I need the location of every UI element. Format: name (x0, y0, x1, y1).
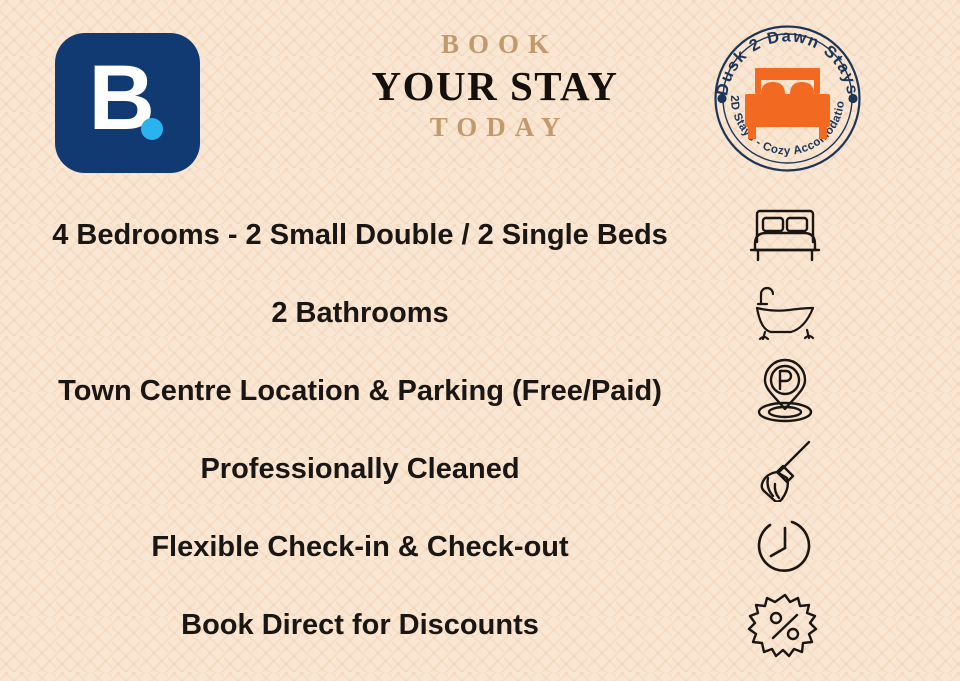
feature-row: Flexible Check-in & Check-out (0, 508, 960, 586)
clock-icon (742, 514, 828, 580)
feature-label: 2 Bathrooms (0, 297, 700, 330)
feature-label: Professionally Cleaned (0, 453, 700, 486)
discount-percent-icon (742, 592, 828, 658)
bathtub-icon (742, 280, 828, 346)
headline-line-book: BOOK (345, 28, 645, 60)
parking-pin-icon (742, 358, 828, 424)
feature-row: Professionally Cleaned (0, 430, 960, 508)
headline-line-today: TODAY (345, 111, 645, 143)
feature-row: 4 Bedrooms - 2 Small Double / 2 Single B… (0, 196, 960, 274)
feature-row: 2 Bathrooms (0, 274, 960, 352)
headline-block: BOOK YOUR STAY TODAY (345, 28, 645, 143)
feature-label: 4 Bedrooms - 2 Small Double / 2 Single B… (0, 219, 700, 252)
dusk-2-dawn-badge: Dusk 2 Dawn Stays D2D Stays - Cozy Accom… (705, 16, 870, 181)
poster-header: B BOOK YOUR STAY TODAY Dusk 2 Dawn Stays (0, 0, 960, 196)
feature-row: Town Centre Location & Parking (Free/Pai… (0, 352, 960, 430)
broom-icon (742, 436, 828, 502)
feature-list: 4 Bedrooms - 2 Small Double / 2 Single B… (0, 196, 960, 681)
booking-logo-dot (141, 118, 163, 140)
feature-label: Flexible Check-in & Check-out (0, 531, 700, 564)
booking-logo: B (55, 33, 200, 173)
badge-bed-icon (745, 68, 830, 139)
headline-line-your-stay: YOUR STAY (345, 62, 645, 110)
feature-label: Town Centre Location & Parking (Free/Pai… (0, 375, 700, 408)
promo-poster: B BOOK YOUR STAY TODAY Dusk 2 Dawn Stays (0, 0, 960, 681)
booking-logo-mark: B (89, 60, 167, 146)
badge-top-text: Dusk 2 Dawn Stays (713, 27, 862, 97)
bed-icon (742, 202, 828, 268)
feature-label: Book Direct for Discounts (0, 609, 700, 642)
feature-row: Book Direct for Discounts (0, 586, 960, 664)
